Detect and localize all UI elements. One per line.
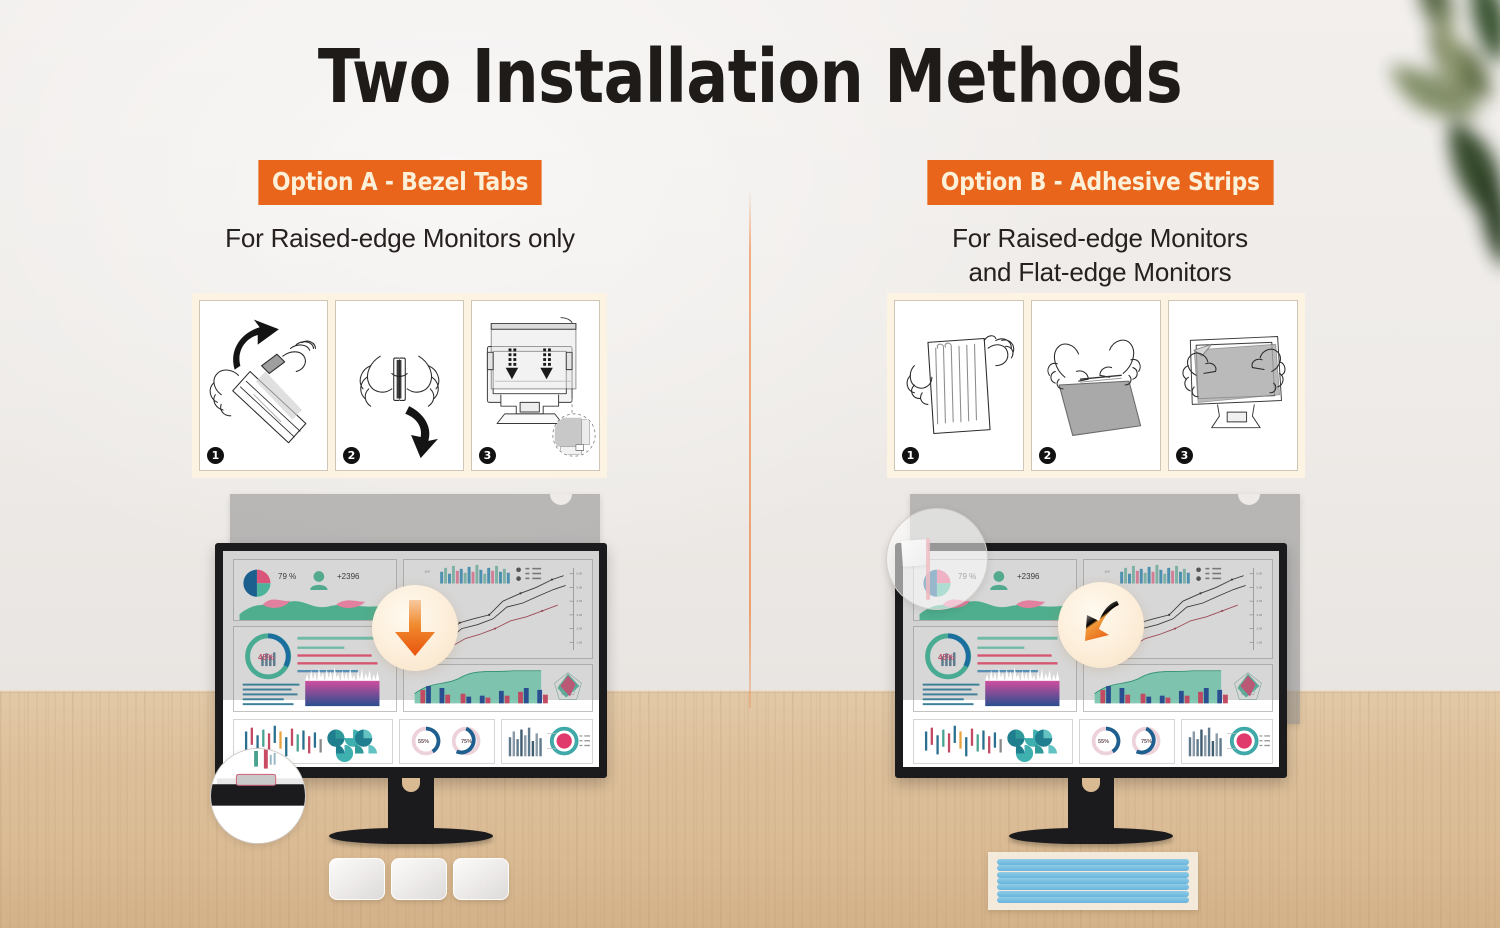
donut-card-a: 45% [233,626,397,712]
adhesive-strips-accessory [988,852,1198,910]
adhesive-strip [997,859,1189,865]
svg-text:4.00: 4.00 [576,599,582,603]
page-title: Two Installation Methods [53,40,1448,114]
pie-icons [1007,730,1057,762]
adhesive-placement-magnifier [886,508,988,610]
svg-text:100: 100 [425,570,430,574]
option-a-instruction-strip: 1 2 [192,293,607,478]
peel-strip-sheet-illustration [895,301,1023,470]
down-arrow-icon [389,598,441,658]
option-a-step-1-panel: 1 [199,300,328,471]
svg-text:5.00: 5.00 [576,585,582,589]
radar-chart [555,673,582,700]
bars-donut-card-b [1181,719,1273,764]
option-b-step-3-number: 3 [1176,447,1193,464]
bezel-tab-piece [391,858,447,900]
option-a-subtitle-line-1: For Raised-edge Monitors only [190,221,610,255]
gauges-card-b: 55% 75% [1079,719,1175,764]
area-bar-card-b [1083,664,1273,712]
adhesive-strip [997,872,1189,878]
monitor-base-a [329,828,493,844]
donut-card-b: 45% [913,626,1077,712]
adhesive-strip [997,884,1189,890]
gauge-right-label-b: 75% [1141,739,1152,745]
option-a-badge: Option A - Bezel Tabs [258,160,541,205]
svg-text:6.00: 6.00 [576,572,582,576]
adhesive-strip [997,865,1189,871]
gauge-left-label-b: 55% [1098,739,1109,745]
bars-donut-card-a [501,719,593,764]
option-b-step-3-panel: 3 [1168,300,1298,471]
user-icon [310,571,327,590]
adhesive-strip [997,891,1189,897]
user-delta-label: +2396 [337,572,359,581]
svg-text:4.00: 4.00 [1256,599,1262,603]
pie-percent-label: 79 % [278,572,296,581]
option-a-badge-wrap: Option A - Bezel Tabs [190,160,610,205]
option-a-step-2-number: 2 [343,447,360,464]
adhesive-strip [997,897,1189,903]
area-bar-card-a [403,664,593,712]
option-b-step-1-number: 1 [902,447,919,464]
svg-text:5.00: 5.00 [1256,585,1262,589]
option-b-badge: Option B - Adhesive Strips [927,160,1273,205]
bezel-tabs-accessory [329,858,509,900]
user-icon [990,571,1007,590]
bend-tab-illustration [336,301,463,470]
down-left-arrow-icon [1073,597,1129,653]
radar-chart [1235,673,1262,700]
install-direction-badge-a [372,585,458,671]
candlestick-card-b [913,719,1073,764]
option-a-monitor-scene: 79 % +2396 [200,480,630,900]
option-b-step-1-panel: 1 [894,300,1024,471]
apply-strip-illustration [1032,301,1160,470]
svg-text:3.00: 3.00 [1256,613,1262,617]
svg-text:1.00: 1.00 [576,640,582,644]
svg-text:6.00: 6.00 [1256,572,1262,576]
option-b-monitor-scene: 79 % +2396 [880,480,1310,900]
column-divider [749,188,751,708]
bezel-tab-piece [329,858,385,900]
svg-text:2.00: 2.00 [1256,627,1262,631]
donut-percent-label-b: 45% [938,653,954,662]
bezel-tab-piece [453,858,509,900]
install-direction-badge-b [1058,582,1144,668]
pie-chart-icon [243,570,270,597]
svg-text:1.00: 1.00 [1256,640,1262,644]
option-b-step-2-number: 2 [1039,447,1056,464]
option-a-step-2-panel: 2 [335,300,464,471]
option-a-step-3-panel: 3 [471,300,600,471]
option-b-badge-wrap: Option B - Adhesive Strips [890,160,1310,205]
monitor-base-b [1009,828,1173,844]
option-b-instruction-strip: 1 2 [887,293,1305,478]
option-b-subtitle: For Raised-edge Monitors and Flat-edge M… [890,221,1310,290]
bezel-tab-magnifier [210,748,306,844]
option-b-subtitle-line-2: and Flat-edge Monitors [890,255,1310,289]
gauge-left-label: 55% [418,739,429,745]
option-a-step-1-number: 1 [207,447,224,464]
slide-filter-illustration [472,301,599,470]
user-delta-label-b: +2396 [1017,572,1039,581]
svg-text:2.00: 2.00 [576,627,582,631]
infographic-canvas: Two Installation Methods Option A - Beze… [0,0,1500,928]
option-b-column: Option B - Adhesive Strips For Raised-ed… [890,160,1310,290]
donut-percent-label: 45% [258,653,274,662]
option-a-subtitle: For Raised-edge Monitors only [190,221,610,255]
option-b-subtitle-line-1: For Raised-edge Monitors [890,221,1310,255]
gauge-right-label: 75% [461,739,472,745]
svg-text:100: 100 [1105,570,1110,574]
option-a-column: Option A - Bezel Tabs For Raised-edge Mo… [190,160,610,255]
option-b-step-2-panel: 2 [1031,300,1161,471]
kpi-card-a: 79 % +2396 [233,559,397,621]
peel-liner-illustration [200,301,327,470]
adhesive-strip [997,878,1189,884]
pie-icons [327,730,377,762]
option-a-step-3-number: 3 [479,447,496,464]
press-filter-illustration [1169,301,1297,470]
svg-text:3.00: 3.00 [576,613,582,617]
gauges-card-a: 55% 75% [399,719,495,764]
